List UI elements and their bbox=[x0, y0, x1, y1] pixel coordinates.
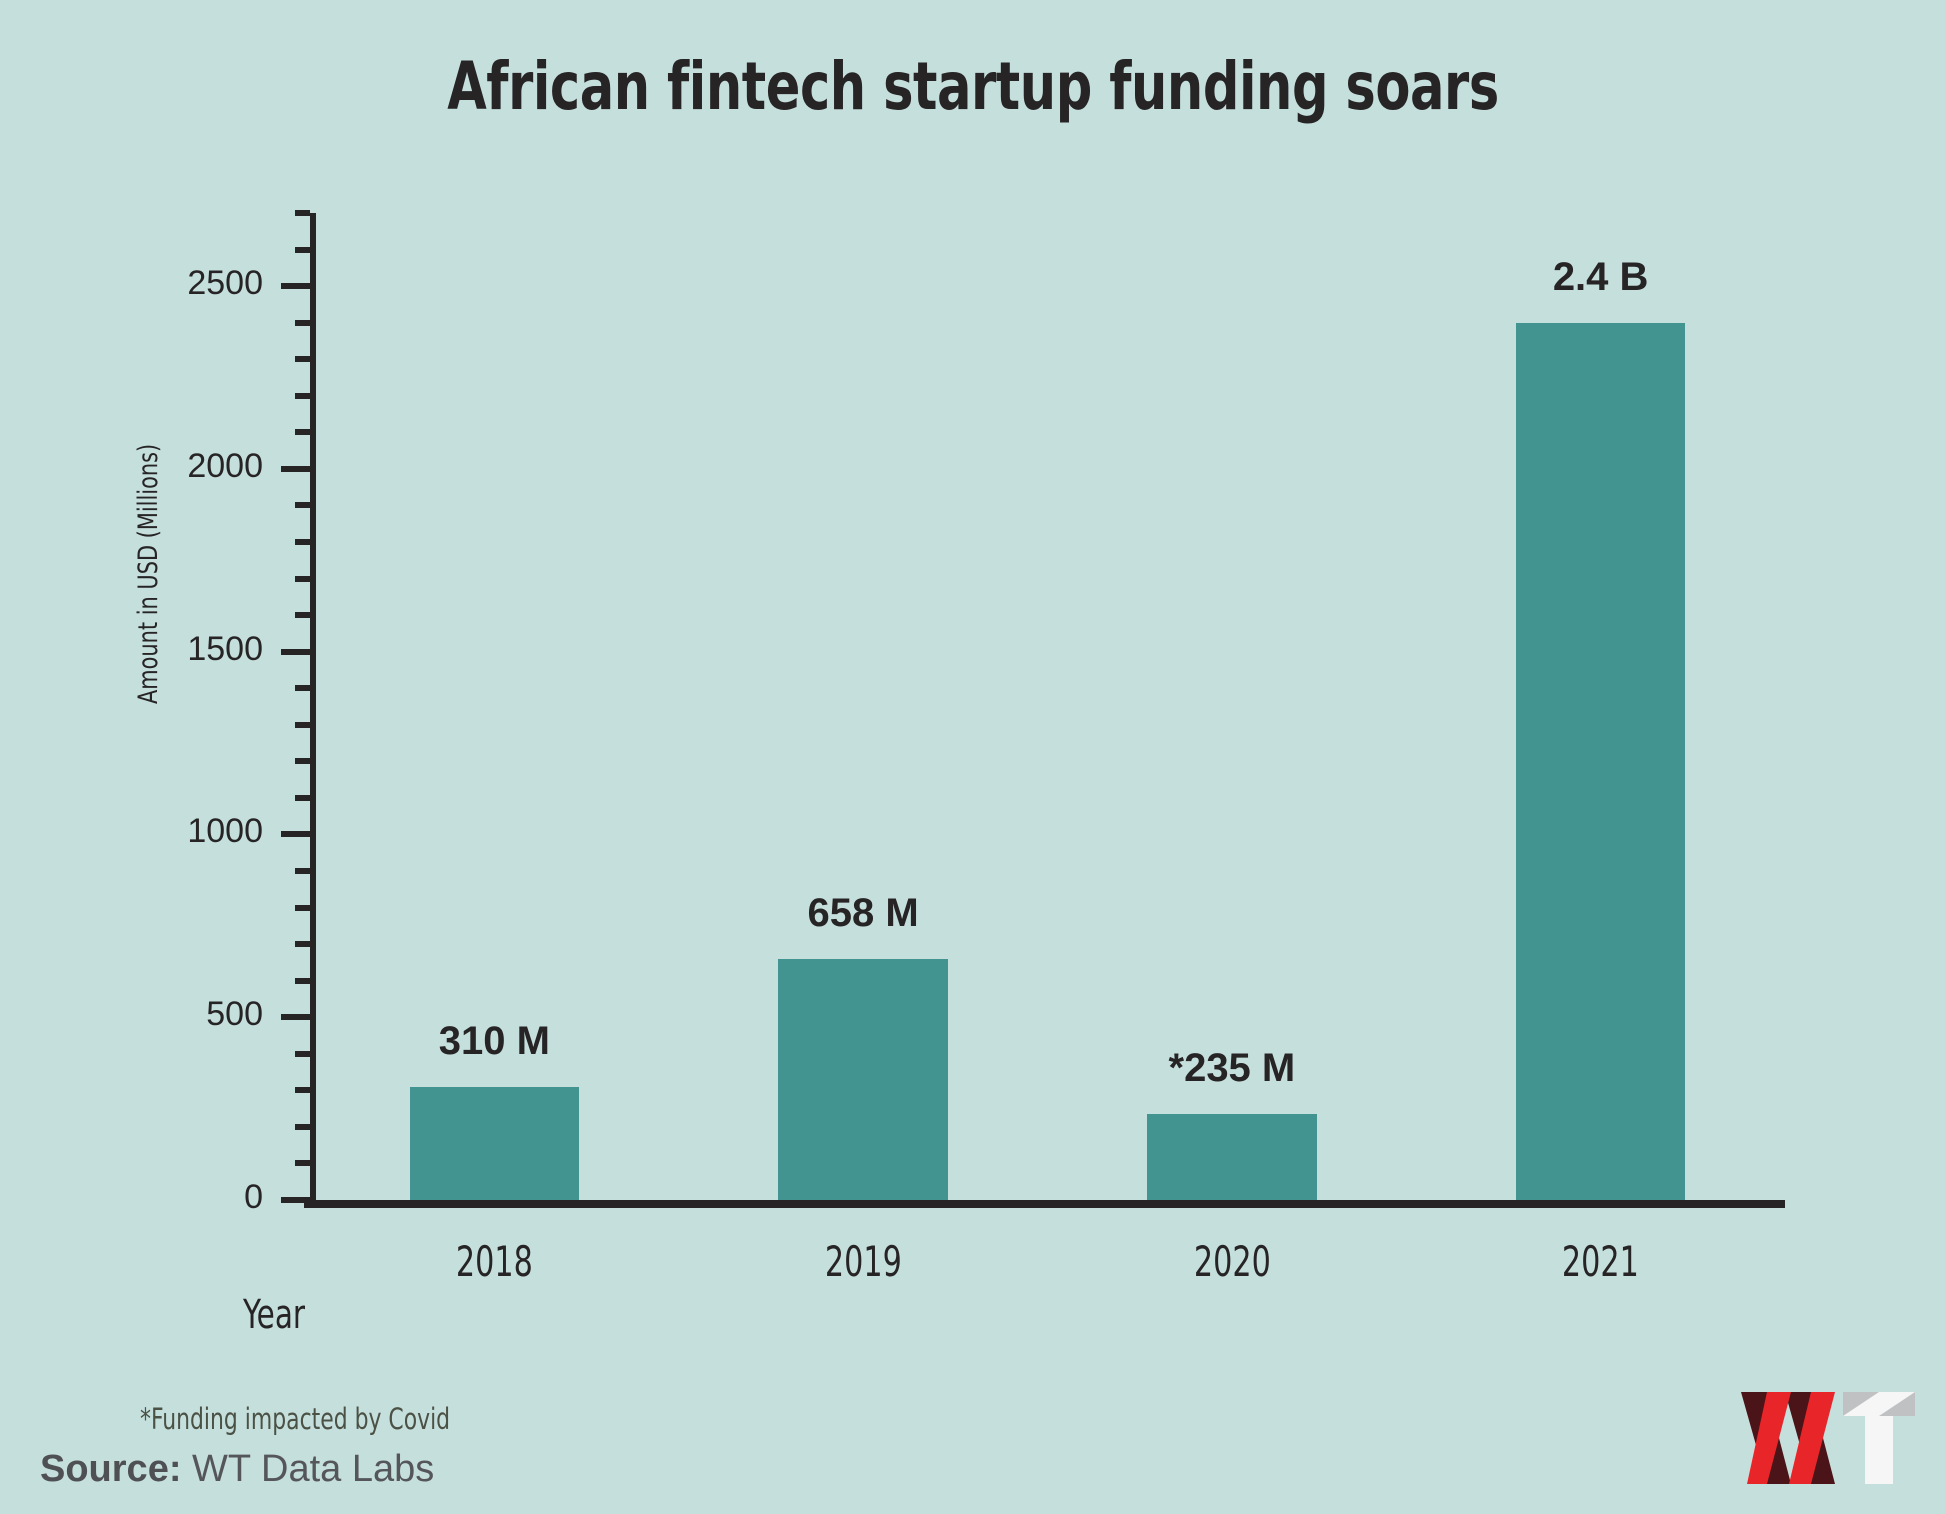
y-tick-minor bbox=[295, 502, 310, 508]
y-tick-label: 1500 bbox=[187, 630, 263, 669]
plot-area: 05001000150020002500 310 M658 M*235 M2.4… bbox=[310, 213, 1785, 1200]
y-tick-minor bbox=[295, 758, 310, 764]
bar-value-label-2018: 310 M bbox=[310, 1019, 679, 1064]
wt-logo-icon bbox=[1739, 1386, 1919, 1490]
y-tick-minor bbox=[295, 247, 310, 253]
y-tick-major bbox=[281, 283, 310, 289]
bar-2019[interactable] bbox=[778, 959, 948, 1200]
y-tick-label: 2500 bbox=[187, 264, 263, 303]
y-tick-minor bbox=[295, 722, 310, 728]
y-tick-minor bbox=[295, 1051, 310, 1057]
y-tick-major bbox=[281, 1014, 310, 1020]
wt-logo bbox=[1739, 1386, 1919, 1490]
y-axis-title: Amount in USD (Millions) bbox=[133, 444, 164, 704]
y-tick-label: 2000 bbox=[187, 447, 263, 486]
x-axis-title: Year bbox=[243, 1292, 305, 1338]
y-tick-minor bbox=[295, 393, 310, 399]
y-tick-major bbox=[281, 649, 310, 655]
y-tick-label: 1000 bbox=[187, 812, 263, 851]
y-tick-minor bbox=[295, 1124, 310, 1130]
y-tick-minor bbox=[295, 320, 310, 326]
y-tick-minor bbox=[295, 356, 310, 362]
x-tick-label-2019: 2019 bbox=[716, 1237, 1011, 1286]
source-line: Source: WT Data Labs bbox=[40, 1448, 434, 1491]
bar-value-label-2020: *235 M bbox=[1048, 1046, 1417, 1091]
source-label: Source: bbox=[40, 1448, 181, 1490]
y-tick-minor bbox=[295, 905, 310, 911]
x-tick-label-2020: 2020 bbox=[1084, 1237, 1379, 1286]
x-tick-label-2021: 2021 bbox=[1453, 1237, 1748, 1286]
y-tick-minor bbox=[295, 1087, 310, 1093]
bar-value-label-2021: 2.4 B bbox=[1416, 255, 1785, 300]
y-tick-minor bbox=[295, 978, 310, 984]
y-tick-label: 0 bbox=[244, 1178, 263, 1217]
bar-2021[interactable] bbox=[1516, 323, 1686, 1200]
bar-value-label-2019: 658 M bbox=[679, 891, 1048, 936]
footnote: *Funding impacted by Covid bbox=[140, 1402, 450, 1436]
bar-2018[interactable] bbox=[410, 1087, 580, 1200]
y-tick-minor bbox=[295, 685, 310, 691]
y-tick-minor bbox=[295, 539, 310, 545]
x-tick-label-2018: 2018 bbox=[347, 1237, 642, 1286]
y-tick-major bbox=[281, 466, 310, 472]
y-tick-major bbox=[281, 1197, 310, 1203]
y-tick-major bbox=[281, 831, 310, 837]
bar-2020[interactable] bbox=[1147, 1114, 1317, 1200]
y-tick-minor bbox=[295, 1160, 310, 1166]
x-axis-spine bbox=[304, 1200, 1785, 1208]
y-tick-label: 500 bbox=[206, 995, 263, 1034]
y-tick-minor bbox=[295, 795, 310, 801]
y-tick-minor bbox=[295, 941, 310, 947]
y-tick-minor bbox=[295, 576, 310, 582]
y-tick-minor bbox=[295, 612, 310, 618]
y-tick-minor bbox=[295, 868, 310, 874]
source-value: WT Data Labs bbox=[192, 1448, 434, 1490]
y-tick-minor bbox=[295, 429, 310, 435]
page-title: African fintech startup funding soars bbox=[136, 48, 1810, 125]
chart-page: African fintech startup funding soars 05… bbox=[0, 0, 1946, 1514]
y-tick-minor bbox=[295, 210, 310, 216]
